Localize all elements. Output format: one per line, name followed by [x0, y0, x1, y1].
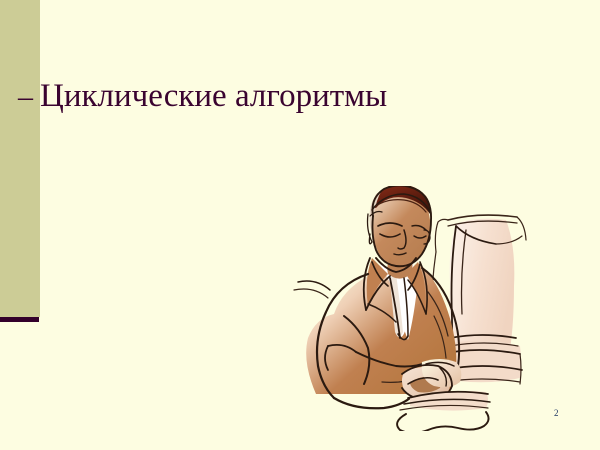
computer-user-illustration — [272, 186, 548, 431]
sidebar-decorative-band — [0, 0, 40, 317]
slide-title: – Циклические алгоритмы — [18, 76, 387, 116]
slide-number: 2 — [554, 408, 559, 418]
title-text: Циклические алгоритмы — [40, 76, 387, 116]
slide-canvas: – Циклические алгоритмы — [0, 0, 600, 450]
title-bullet-dash: – — [18, 82, 33, 112]
sidebar-rule-divider — [0, 317, 39, 322]
